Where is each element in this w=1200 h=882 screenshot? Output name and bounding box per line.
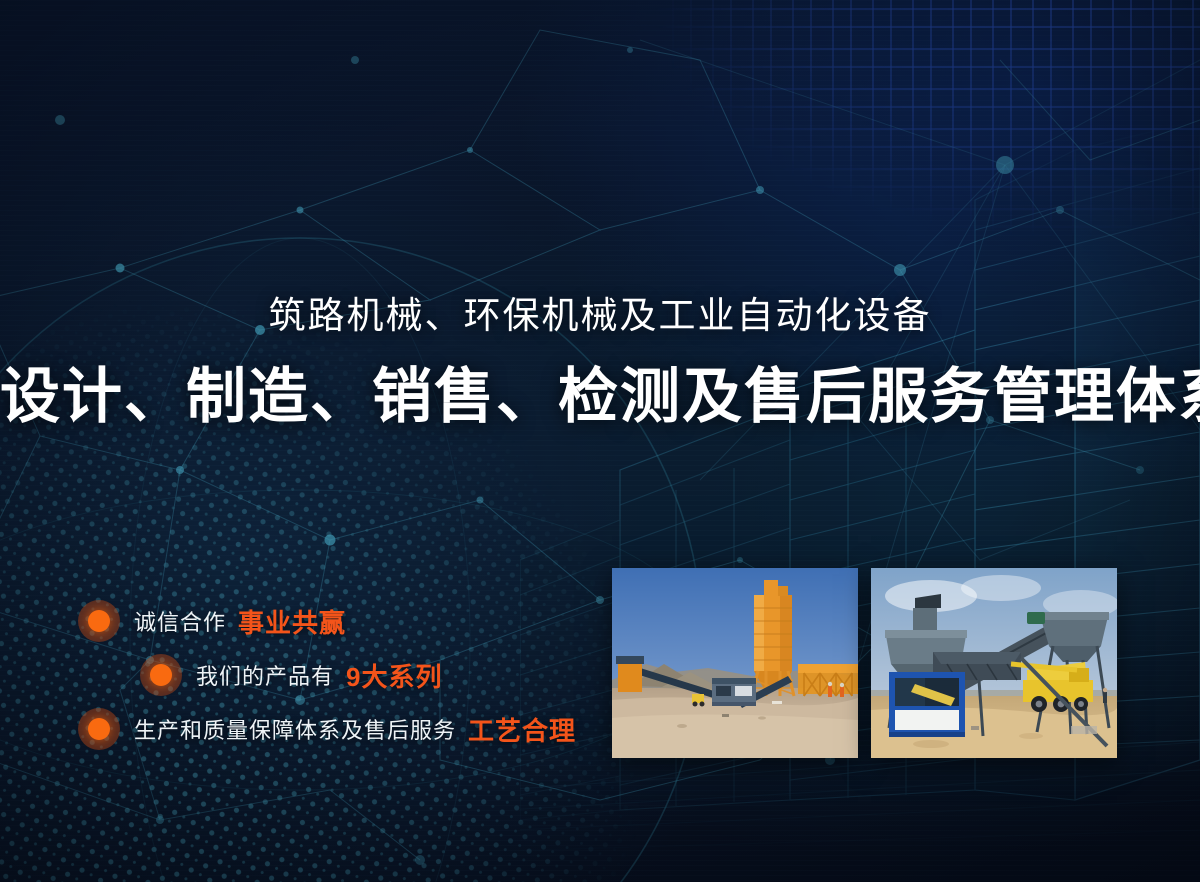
bullet-label: 诚信合作 [134, 605, 226, 637]
orange-dot-icon [78, 708, 120, 750]
bullet-accent: 9大系列 [346, 657, 442, 694]
feature-list: 诚信合作 事业共赢 我们的产品有 9大系列 生产和质量保障体系及售后服务 工艺合… [78, 596, 618, 758]
bullet-accent: 事业共赢 [238, 603, 346, 640]
bullet-accent: 工艺合理 [468, 711, 576, 748]
orange-dot-icon [140, 654, 182, 696]
banner-subtitle: 筑路机械、环保机械及工业自动化设备 [0, 296, 1200, 337]
list-item: 诚信合作 事业共赢 [78, 596, 618, 646]
bullet-label: 我们的产品有 [196, 659, 334, 691]
orange-dot-icon [78, 600, 120, 642]
banner-headline: 设计、制造、销售、检测及售后服务管理体系 [0, 364, 1200, 430]
concrete-batching-plant-photo [612, 568, 858, 758]
promo-banner: 筑路机械、环保机械及工业自动化设备 设计、制造、销售、检测及售后服务管理体系 诚… [0, 0, 1200, 882]
list-item: 生产和质量保障体系及售后服务 工艺合理 [78, 704, 618, 754]
bullet-label: 生产和质量保障体系及售后服务 [134, 713, 456, 745]
mobile-mixing-plant-photo [871, 568, 1117, 758]
list-item: 我们的产品有 9大系列 [140, 650, 618, 700]
square-grid-graphic [570, 0, 1200, 306]
